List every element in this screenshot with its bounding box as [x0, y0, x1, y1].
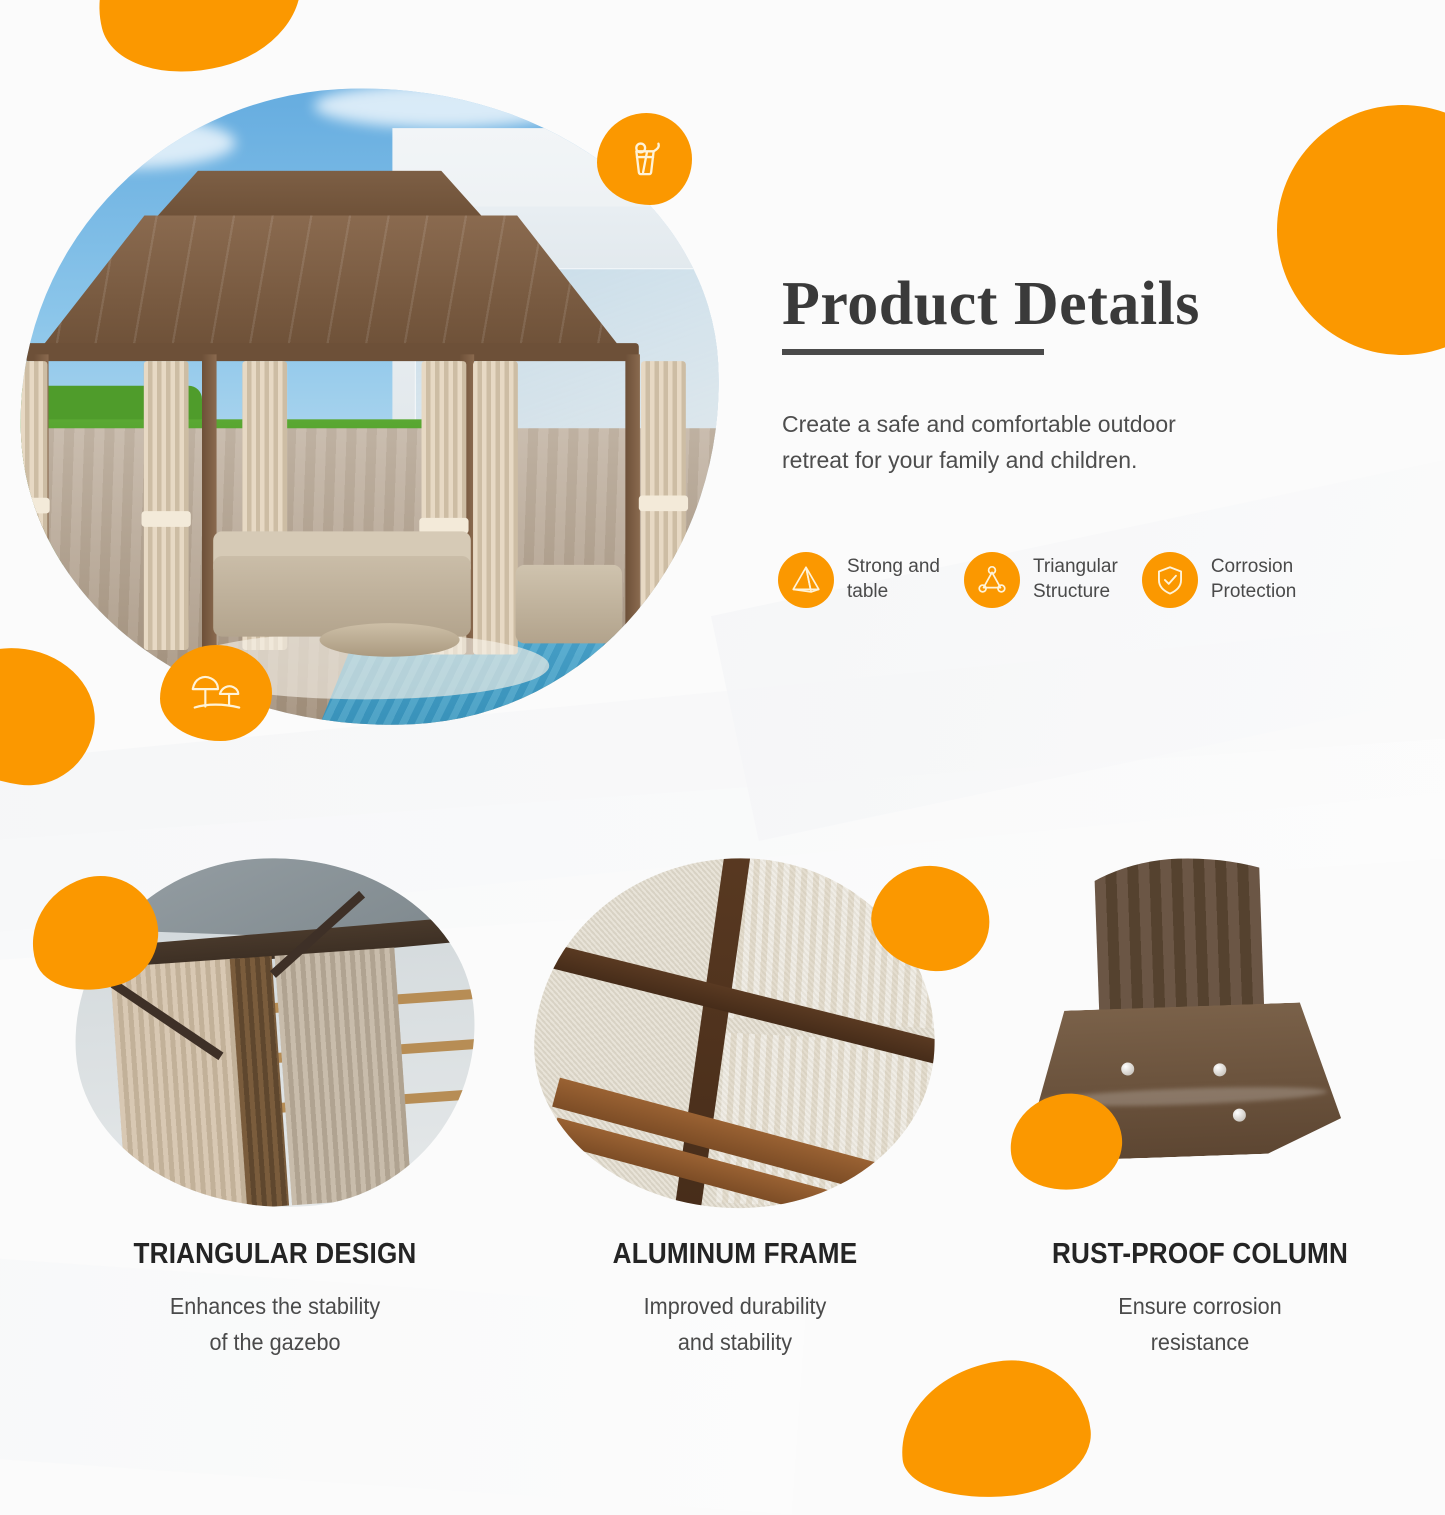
panel-caption-text: Enhances the stability of the gazebo [87, 1289, 463, 1360]
panel-caption: RUST-PROOF COLUMN Ensure corrosion resis… [1000, 1238, 1400, 1360]
cocktail-drink-icon [622, 136, 668, 182]
pyramid-icon [789, 563, 823, 597]
infographic-stage: Product Details Create a safe and comfor… [0, 0, 1445, 1445]
beach-umbrella-icon-bubble [160, 645, 272, 741]
beach-umbrella-icon [185, 669, 247, 717]
panel-caption-title: TRIANGULAR DESIGN [95, 1238, 455, 1271]
triangle-nodes-icon [975, 563, 1009, 597]
decorative-blob-top [78, 0, 317, 92]
feature-badge-strong-stable: Strong and table [778, 552, 940, 608]
hero-gazebo-post [625, 354, 640, 632]
feature-label: Strong and table [847, 555, 940, 604]
hero-armchair [516, 565, 622, 643]
hero-curtain [641, 361, 686, 628]
hero-curtain-tieback [142, 511, 191, 527]
feature-badge-list: Strong and table Triangular Structure [778, 552, 1418, 608]
triangle-nodes-icon-circle [964, 552, 1020, 608]
panel-caption: ALUMINUM FRAME Improved durability and s… [535, 1238, 935, 1360]
feature-badge-triangular-structure: Triangular Structure [964, 552, 1118, 608]
hero-cloud [23, 117, 236, 169]
panel-caption-text: Ensure corrosion resistance [1012, 1289, 1388, 1360]
cocktail-drink-icon-bubble [597, 113, 692, 205]
panel-caption-text: Improved durability and stability [547, 1289, 923, 1360]
feature-label: Triangular Structure [1033, 555, 1118, 604]
panel-caption-title: ALUMINUM FRAME [555, 1238, 915, 1271]
hero-curtain [473, 361, 518, 654]
panel1-curtain [275, 947, 412, 1205]
header-block: Product Details Create a safe and comfor… [782, 272, 1402, 478]
shield-check-icon-circle [1142, 552, 1198, 608]
pyramid-icon-circle [778, 552, 834, 608]
page-title: Product Details [782, 272, 1402, 337]
title-underline [782, 349, 1044, 355]
panel3-column [1093, 851, 1265, 1031]
hero-coffee-table [320, 623, 460, 657]
detail-panel-list: TRIANGULAR DESIGN Enhances the stability… [0, 858, 1445, 1418]
hero-curtain-tieback [639, 495, 688, 511]
hero-sofa [213, 556, 471, 637]
feature-badge-corrosion-protection: Corrosion Protection [1142, 552, 1297, 608]
shield-check-icon [1153, 563, 1187, 597]
panel-caption: TRIANGULAR DESIGN Enhances the stability… [75, 1238, 475, 1360]
hero-curtain-tieback [4, 498, 50, 514]
panel-caption-title: RUST-PROOF COLUMN [1020, 1238, 1380, 1271]
hero-cloud [314, 83, 572, 128]
feature-label: Corrosion Protection [1211, 555, 1297, 604]
hero-gazebo-eave [25, 343, 639, 361]
page-subtitle: Create a safe and comfortable outdoor re… [782, 407, 1212, 478]
hero-curtain [144, 361, 189, 650]
